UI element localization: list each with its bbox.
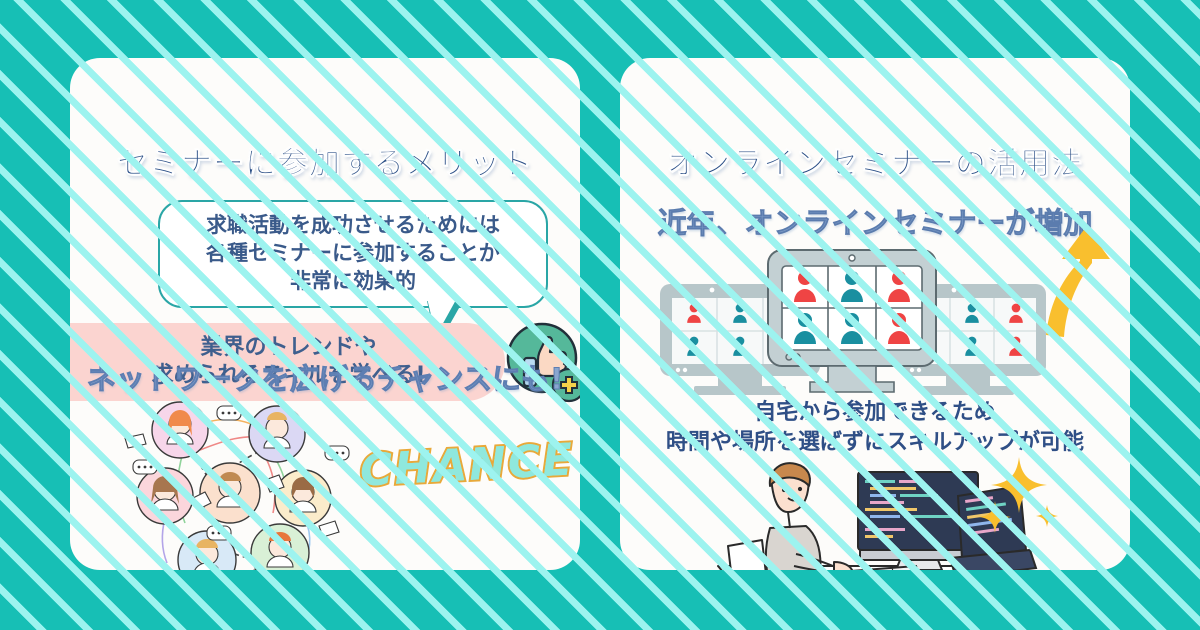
right-panel-description: 自宅から参加できるため 時間や場所を選ばずにスキルアップが可能 [620,398,1130,457]
curved-up-arrow-icon [1040,223,1120,343]
right-panel-card: オンラインセミナーの活用法 近年、オンラインセミナーが増加 [620,58,1130,570]
bubble-line-3: 非常に効果的 [290,268,416,296]
bubble-line-2: 各種セミナーに参加することが [206,240,500,268]
chance-word: CHANCE [359,434,576,496]
infographic-canvas: セミナーに参加するメリット 求職活動を成功させるためには 各種セミナーに参加する… [0,0,1200,630]
right-panel-title: オンラインセミナーの活用法 [620,138,1130,183]
video-conference-monitors-illustration [650,246,1050,401]
desc-line-1: 自宅から参加できるため [620,398,1130,428]
left-panel-card: セミナーに参加するメリット 求職活動を成功させるためには 各種セミナーに参加する… [70,58,580,570]
left-panel-title: セミナーに参加するメリット [70,138,580,183]
network-headline: ネットワークを広げるチャンスにも! [70,356,580,398]
sparkles-icon [975,453,1065,543]
speech-bubble: 求職活動を成功させるためには 各種セミナーに参加することが 非常に効果的 [158,200,548,308]
bubble-line-1: 求職活動を成功させるためには [206,212,500,240]
speech-bubble-text: 求職活動を成功させるためには 各種セミナーに参加することが 非常に効果的 [160,202,546,306]
people-network-illustration [105,398,385,570]
